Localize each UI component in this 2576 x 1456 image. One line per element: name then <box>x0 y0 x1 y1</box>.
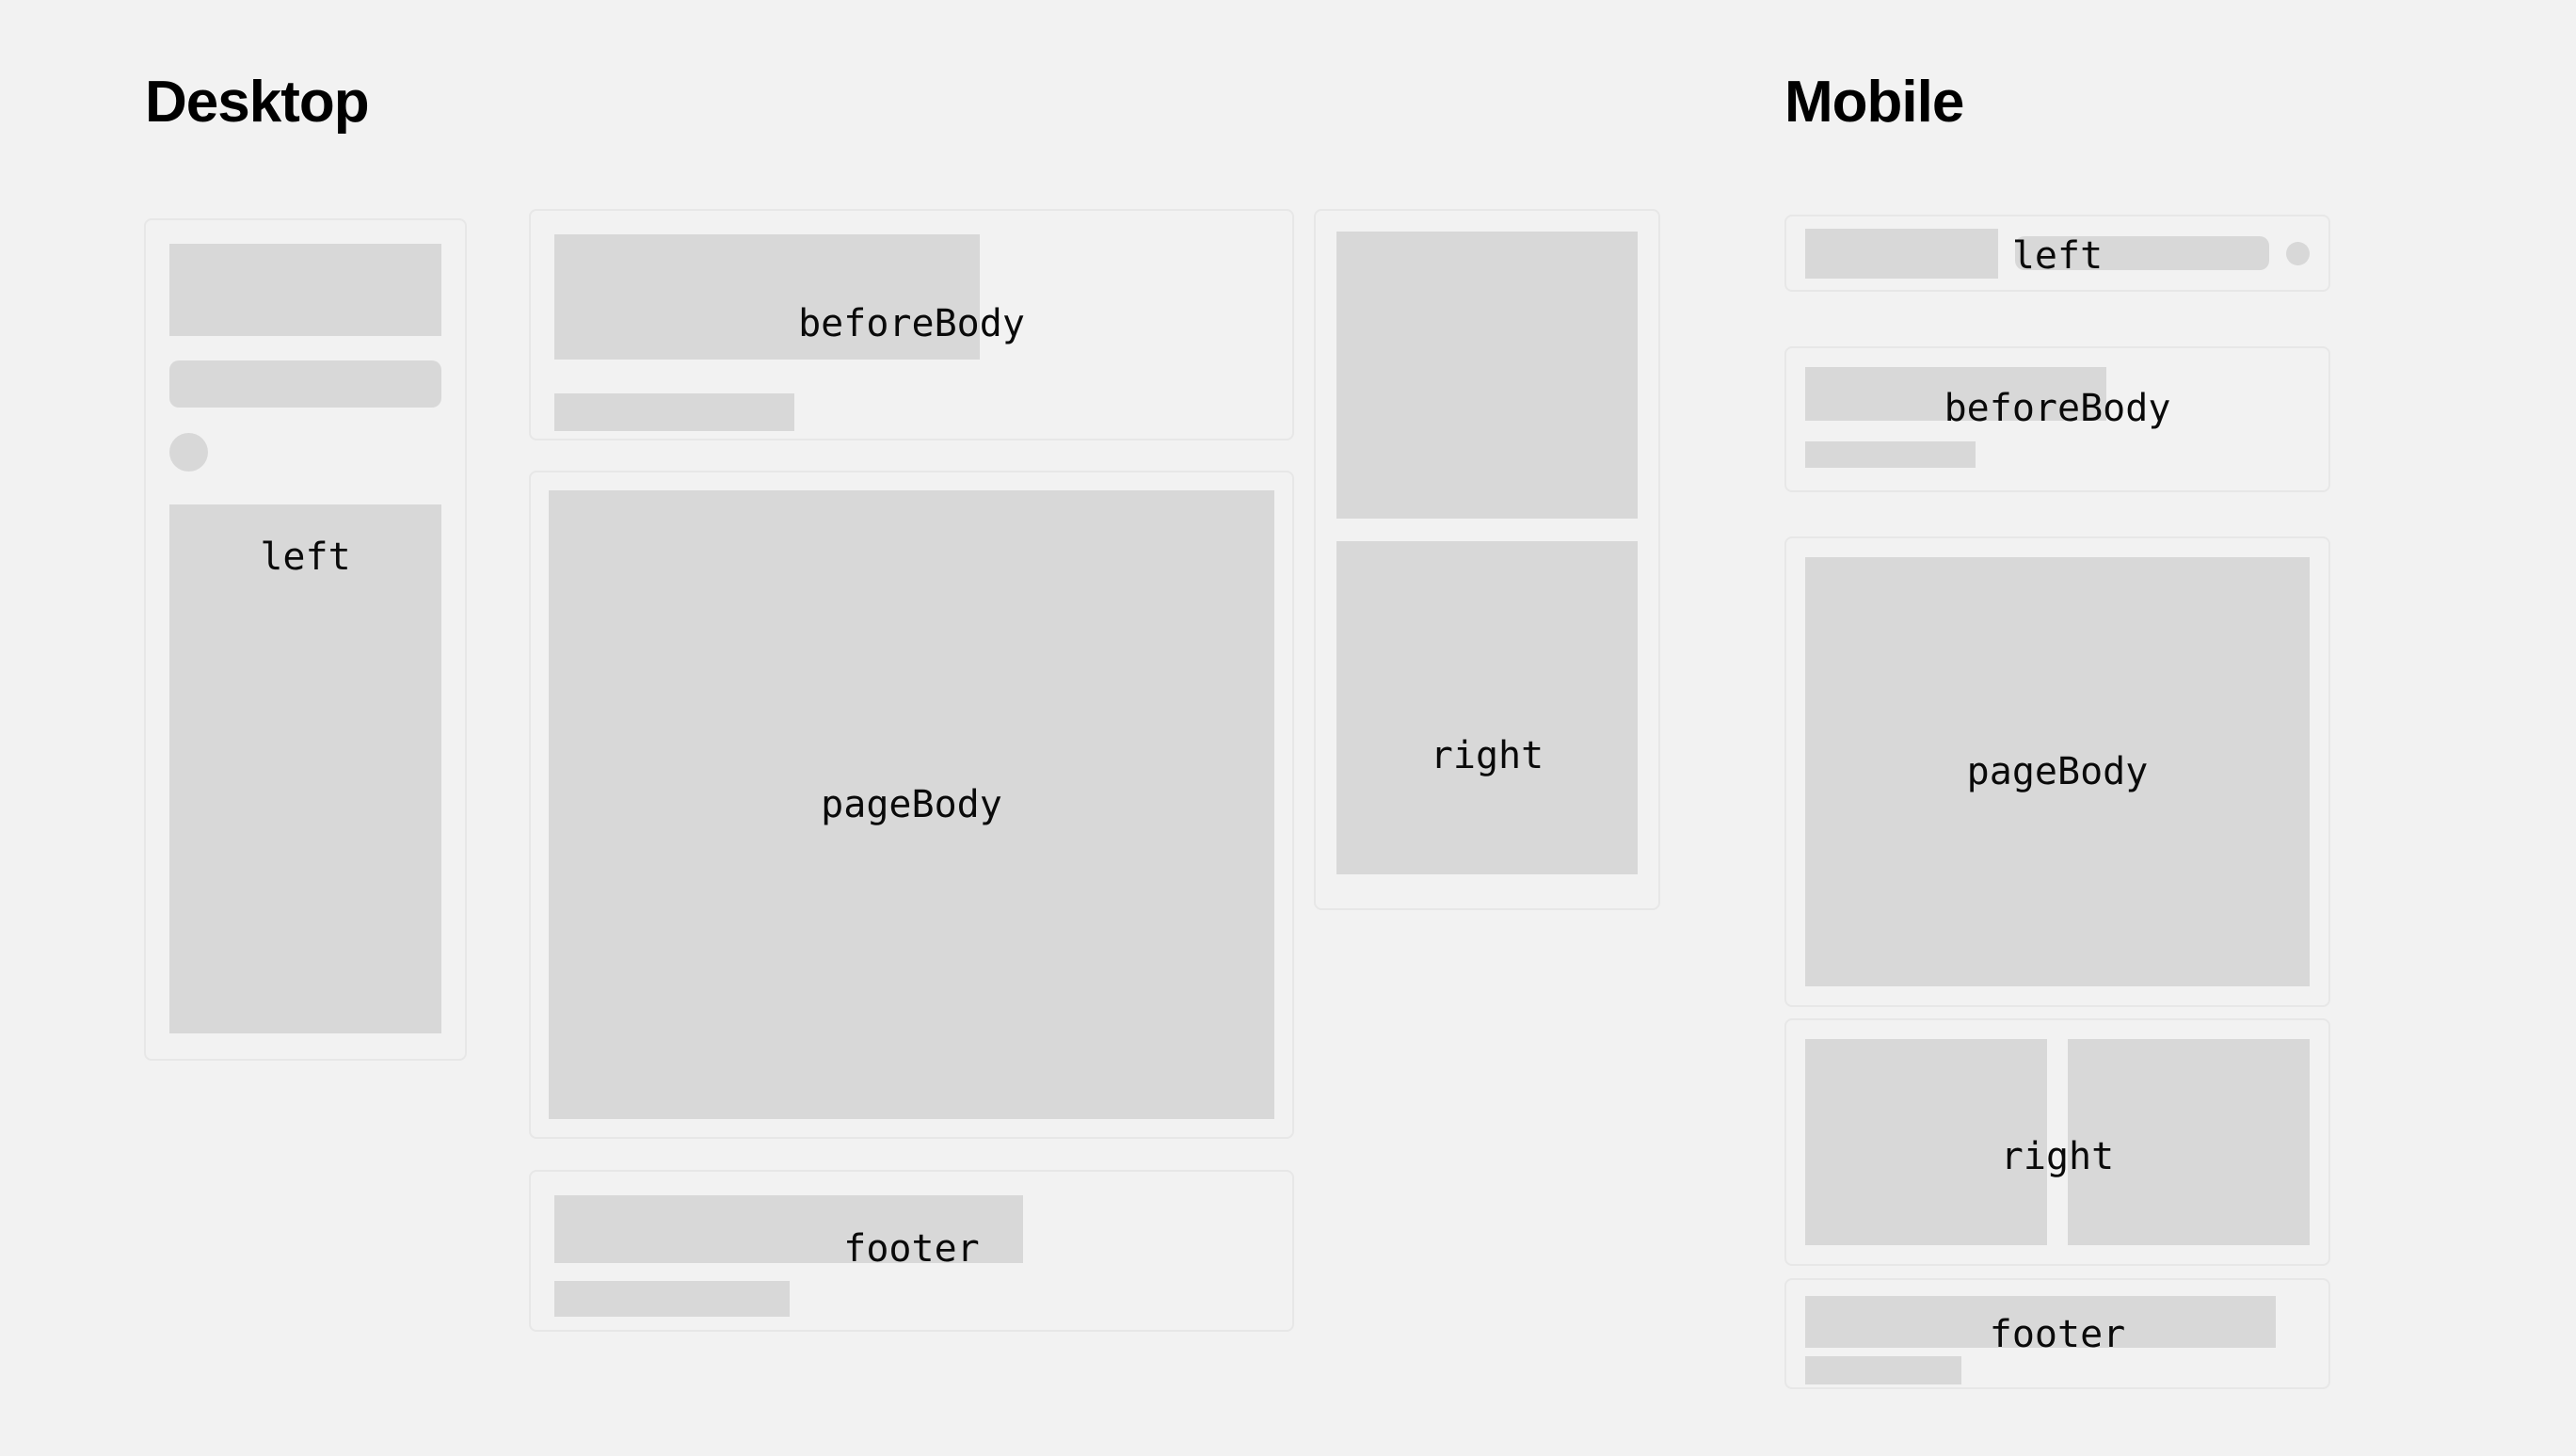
skeleton-avatar-circle <box>2286 242 2310 265</box>
mobile-right-panel: right <box>1784 1018 2330 1266</box>
mobile-pagebody-label: pageBody <box>1786 753 2328 791</box>
skeleton-block-footer-secondary <box>1805 1356 1961 1384</box>
skeleton-block-right-left-col <box>1805 1039 2047 1245</box>
mobile-beforebody-panel: beforeBody <box>1784 346 2330 492</box>
skeleton-block-subheader <box>169 360 441 408</box>
skeleton-block-subheader <box>2015 236 2269 270</box>
skeleton-block-left-region: left <box>169 504 441 1033</box>
skeleton-block-footer-primary <box>554 1195 1023 1263</box>
skeleton-block-header <box>1805 229 1998 279</box>
desktop-pagebody-panel: pageBody <box>529 471 1294 1139</box>
skeleton-block-secondary <box>554 393 794 431</box>
skeleton-block-secondary <box>1805 441 1976 468</box>
skeleton-block-right-top <box>1336 232 1638 519</box>
skeleton-block-primary <box>1805 367 2106 421</box>
desktop-section-title: Desktop <box>145 73 369 132</box>
mobile-left-panel: left <box>1784 215 2330 292</box>
mobile-section-title: Mobile <box>1784 73 1963 132</box>
skeleton-block-footer-secondary <box>554 1281 790 1317</box>
desktop-left-label: left <box>169 538 441 576</box>
skeleton-block-right-bottom <box>1336 541 1638 874</box>
mobile-footer-panel: footer <box>1784 1278 2330 1389</box>
skeleton-block-footer-primary <box>1805 1296 2276 1348</box>
skeleton-block-primary <box>554 234 980 360</box>
skeleton-avatar-circle <box>169 433 208 472</box>
desktop-beforebody-panel: beforeBody <box>529 209 1294 440</box>
desktop-pagebody-label: pageBody <box>531 786 1292 824</box>
mobile-pagebody-panel: pageBody <box>1784 536 2330 1007</box>
skeleton-block-header <box>169 244 441 336</box>
desktop-sidebar-panel: left <box>144 218 467 1061</box>
desktop-right-panel: right <box>1314 209 1660 910</box>
desktop-footer-panel: footer <box>529 1170 1294 1332</box>
skeleton-block-right-right-col <box>2068 1039 2310 1245</box>
